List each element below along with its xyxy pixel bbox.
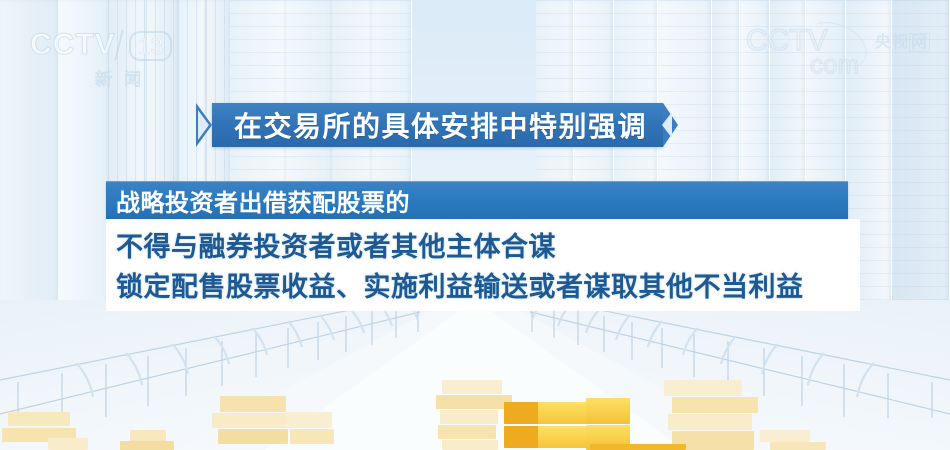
logo-subtitle-cn: 新闻 xyxy=(30,65,210,90)
gold-bar xyxy=(668,414,752,430)
gold-bar xyxy=(290,429,334,444)
watermark-cn-text: 央视网 xyxy=(875,28,930,52)
title-banner: 在交易所的具体安排中特别强调 xyxy=(196,103,678,147)
broadcast-frame: CCTV13 新闻 CCTV com 央视网 在交易所的具体安排中特别强调 战略… xyxy=(0,0,950,450)
cctv13-logo: CCTV13 新闻 xyxy=(30,28,210,90)
logo-channel-number: 13 xyxy=(129,31,173,61)
gold-bar xyxy=(286,412,332,428)
gold-bar xyxy=(220,396,286,412)
gold-bar xyxy=(672,397,758,413)
banner-left-chevron-icon xyxy=(198,110,209,140)
body-text-panel: 不得与融券投资者或者其他主体合谋 锁定配售股票收益、实施利益输送或者谋取其他不当… xyxy=(106,219,860,311)
logo-row: CCTV13 xyxy=(30,28,210,62)
cctv-com-watermark: CCTV com 央视网 xyxy=(746,26,936,82)
gold-bar xyxy=(48,438,88,450)
gold-bar xyxy=(440,410,498,424)
gold-bar-bright xyxy=(504,426,538,448)
gold-bar xyxy=(120,441,174,450)
gold-bar xyxy=(664,380,742,396)
banner-left-cap xyxy=(196,103,212,147)
gold-bar xyxy=(218,429,288,444)
banner-right-chevron-icon xyxy=(662,112,672,138)
gold-bar xyxy=(8,412,70,426)
gold-bar xyxy=(212,413,292,428)
gold-bar xyxy=(760,430,810,442)
gold-bar-bright xyxy=(504,402,538,424)
banner-body: 在交易所的具体安排中特别强调 xyxy=(212,103,663,147)
watermark-cn-2: 网 xyxy=(909,33,930,52)
gold-bar xyxy=(442,440,498,450)
page-title: 在交易所的具体安排中特别强调 xyxy=(234,105,647,145)
logo-cctv-text: CCTV xyxy=(30,28,116,61)
gold-bar xyxy=(438,425,496,439)
body-line: 不得与融券投资者或者其他主体合谋 xyxy=(116,225,556,264)
body-line: 锁定配售股票收益、实施利益输送或者谋取其他不当利益 xyxy=(116,265,804,304)
gold-bar xyxy=(436,395,512,409)
banner-right-cap xyxy=(663,103,678,147)
subtitle-bar: 战略投资者出借获配股票的 xyxy=(106,181,848,219)
subtitle-text: 战略投资者出借获配股票的 xyxy=(116,183,410,218)
gold-bar xyxy=(442,380,502,394)
gold-bar-bright xyxy=(586,398,630,424)
watermark-cn-1: 央视 xyxy=(875,34,909,51)
gold-bar-bright xyxy=(590,444,686,450)
gold-bar xyxy=(770,442,826,450)
